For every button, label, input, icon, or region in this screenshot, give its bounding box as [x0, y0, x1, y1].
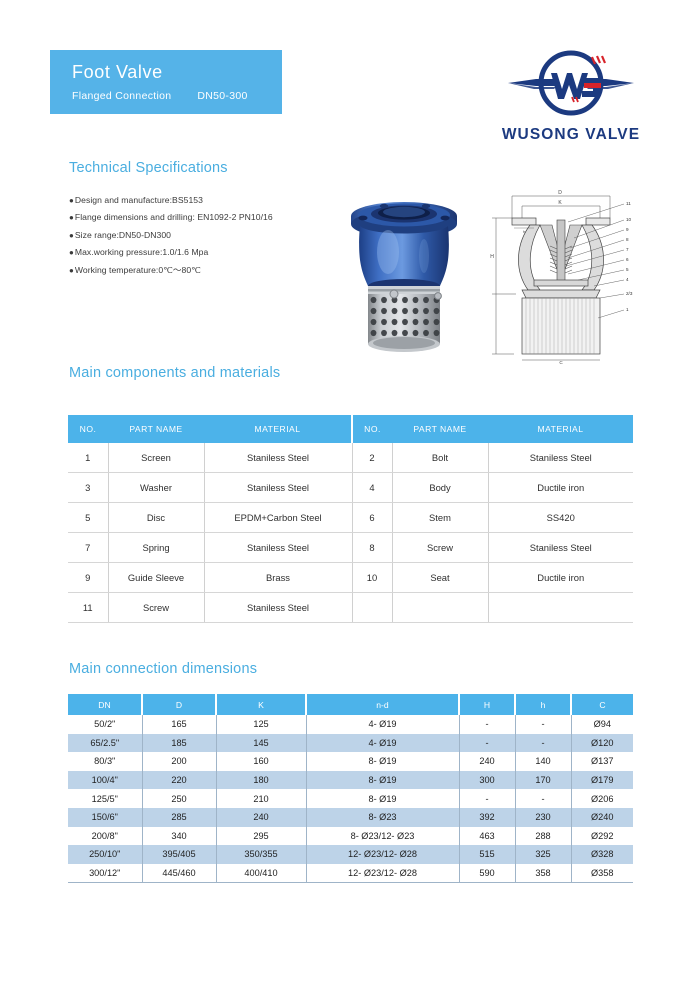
- cell-nd: 4- Ø19: [306, 715, 459, 734]
- bullet-icon: ●: [69, 266, 74, 275]
- cell-d: 185: [142, 734, 216, 753]
- cell-part-name: Disc: [108, 503, 204, 533]
- foot-valve-photo: [338, 186, 470, 361]
- col-header-no-1: NO.: [68, 415, 108, 443]
- cell-nd: 8- Ø19: [306, 789, 459, 808]
- cell-part-name: Screen: [108, 443, 204, 473]
- cell-material: Ductile iron: [488, 563, 633, 593]
- bullet-icon: ●: [69, 248, 74, 257]
- cell-dn: 200/8": [68, 827, 142, 846]
- cell-k: 180: [216, 771, 306, 790]
- table-row: 300/12" 445/460 400/410 12- Ø23/12- Ø28 …: [68, 864, 633, 883]
- table-row: 50/2" 165 125 4- Ø19 - - Ø94: [68, 715, 633, 734]
- cell-part-name: Washer: [108, 473, 204, 503]
- cell-nd: 12- Ø23/12- Ø28: [306, 845, 459, 864]
- cell-d: 200: [142, 752, 216, 771]
- cell-h-upper: 515: [459, 845, 515, 864]
- cell-part-name: Body: [392, 473, 488, 503]
- cell-nd: 8- Ø23/12- Ø23: [306, 827, 459, 846]
- cell-h-upper: 240: [459, 752, 515, 771]
- cell-dn: 125/5": [68, 789, 142, 808]
- cell-material: Staniless Steel: [204, 473, 352, 503]
- cell-h-lower: -: [515, 715, 571, 734]
- company-logo: WUSONG VALVE: [496, 45, 646, 155]
- svg-text:2/3: 2/3: [626, 291, 633, 296]
- cell-no: 8: [352, 533, 392, 563]
- cell-h-lower: 325: [515, 845, 571, 864]
- cell-c: Ø358: [571, 864, 633, 883]
- cell-k: 295: [216, 827, 306, 846]
- svg-text:4: 4: [626, 277, 629, 282]
- cell-k: 400/410: [216, 864, 306, 883]
- cell-d: 250: [142, 789, 216, 808]
- table-row: 125/5" 250 210 8- Ø19 - - Ø206: [68, 789, 633, 808]
- cell-part-name: Screw: [108, 593, 204, 623]
- cell-part-name: Spring: [108, 533, 204, 563]
- table-row: 1 Screen Staniless Steel 2 Bolt Staniles…: [68, 443, 633, 473]
- cell-h-lower: -: [515, 789, 571, 808]
- table-row: 200/8" 340 295 8- Ø23/12- Ø23 463 288 Ø2…: [68, 827, 633, 846]
- col-header-material-2: MATERIAL: [488, 415, 633, 443]
- cell-k: 160: [216, 752, 306, 771]
- cell-c: Ø328: [571, 845, 633, 864]
- cell-dn: 80/3": [68, 752, 142, 771]
- cell-dn: 250/10": [68, 845, 142, 864]
- cell-h-lower: 230: [515, 808, 571, 827]
- table-row: 250/10" 395/405 350/355 12- Ø23/12- Ø28 …: [68, 845, 633, 864]
- svg-text:10: 10: [626, 217, 632, 222]
- bullet-icon: ●: [69, 213, 74, 222]
- cell-part-name: [392, 593, 488, 623]
- size-range-label: DN50-300: [197, 90, 247, 102]
- cell-no: 7: [68, 533, 108, 563]
- cell-nd: 8- Ø23: [306, 808, 459, 827]
- svg-text:11: 11: [626, 201, 631, 206]
- cell-part-name: Stem: [392, 503, 488, 533]
- table-row: 7 Spring Staniless Steel 8 Screw Stanile…: [68, 533, 633, 563]
- cell-no: 3: [68, 473, 108, 503]
- cell-k: 125: [216, 715, 306, 734]
- cell-material: Staniless Steel: [204, 533, 352, 563]
- cell-d: 165: [142, 715, 216, 734]
- cell-no: 5: [68, 503, 108, 533]
- col-header-partname-1: PART NAME: [108, 415, 204, 443]
- cell-c: Ø120: [571, 734, 633, 753]
- cell-k: 350/355: [216, 845, 306, 864]
- col-header-h-lower: h: [515, 694, 571, 715]
- cell-h-lower: -: [515, 734, 571, 753]
- title-banner: Foot Valve Flanged Connection DN50-300: [50, 50, 282, 114]
- cell-k: 240: [216, 808, 306, 827]
- cell-h-upper: 300: [459, 771, 515, 790]
- cell-h-lower: 358: [515, 864, 571, 883]
- cell-c: Ø206: [571, 789, 633, 808]
- connection-type: Flanged Connection: [72, 90, 171, 102]
- col-header-k: K: [216, 694, 306, 715]
- cell-material: SS420: [488, 503, 633, 533]
- spec-text: Working temperature:0℃～80℃: [75, 265, 201, 275]
- company-name: WUSONG VALVE: [496, 126, 646, 144]
- svg-text:h: h: [523, 229, 525, 234]
- cell-part-name: Bolt: [392, 443, 488, 473]
- svg-text:D: D: [558, 190, 562, 196]
- dimensions-heading: Main connection dimensions: [69, 661, 257, 677]
- cell-no: [352, 593, 392, 623]
- cell-d: 445/460: [142, 864, 216, 883]
- svg-text:6: 6: [626, 257, 629, 262]
- col-header-d: D: [142, 694, 216, 715]
- cell-no: 10: [352, 563, 392, 593]
- cell-d: 340: [142, 827, 216, 846]
- table-row: 150/6" 285 240 8- Ø23 392 230 Ø240: [68, 808, 633, 827]
- cell-no: 2: [352, 443, 392, 473]
- cell-dn: 300/12": [68, 864, 142, 883]
- table-row: 11 Screw Staniless Steel: [68, 593, 633, 623]
- svg-text:7: 7: [626, 247, 629, 252]
- cell-nd: 8- Ø19: [306, 771, 459, 790]
- table-row: 65/2.5" 185 145 4- Ø19 - - Ø120: [68, 734, 633, 753]
- svg-text:8: 8: [626, 237, 629, 242]
- cell-nd: 4- Ø19: [306, 734, 459, 753]
- page-header: Foot Valve Flanged Connection DN50-300: [0, 0, 700, 150]
- table-row: 100/4" 220 180 8- Ø19 300 170 Ø179: [68, 771, 633, 790]
- cell-c: Ø179: [571, 771, 633, 790]
- cell-h-lower: 288: [515, 827, 571, 846]
- svg-text:9: 9: [626, 227, 629, 232]
- bullet-icon: ●: [69, 231, 74, 240]
- table-row: 80/3" 200 160 8- Ø19 240 140 Ø137: [68, 752, 633, 771]
- cell-part-name: Screw: [392, 533, 488, 563]
- cell-h-upper: 590: [459, 864, 515, 883]
- cell-h-upper: -: [459, 715, 515, 734]
- cell-h-lower: 140: [515, 752, 571, 771]
- col-header-dn: DN: [68, 694, 142, 715]
- cell-h-upper: 463: [459, 827, 515, 846]
- cell-part-name: Guide Sleeve: [108, 563, 204, 593]
- spec-text: Size range:DN50-DN300: [75, 230, 171, 240]
- col-header-h-upper: H: [459, 694, 515, 715]
- table-row: 9 Guide Sleeve Brass 10 Seat Ductile iro…: [68, 563, 633, 593]
- connection-dimensions-table: DN D K n-d H h C 50/2" 165 125 4- Ø19 - …: [68, 694, 633, 883]
- table-row: 5 Disc EPDM+Carbon Steel 6 Stem SS420: [68, 503, 633, 533]
- cell-h-upper: -: [459, 734, 515, 753]
- col-header-c: C: [571, 694, 633, 715]
- foot-valve-section-drawing: D K H: [482, 186, 650, 364]
- col-header-no-2: NO.: [352, 415, 392, 443]
- cell-material: Staniless Steel: [204, 593, 352, 623]
- spec-text: Max.working pressure:1.0/1.6 Mpa: [75, 247, 208, 257]
- cell-material: Staniless Steel: [488, 533, 633, 563]
- cell-no: 4: [352, 473, 392, 503]
- spec-item: ●Flange dimensions and drilling: EN1092-…: [69, 209, 339, 226]
- cell-material: Staniless Steel: [204, 443, 352, 473]
- cell-nd: 12- Ø23/12- Ø28: [306, 864, 459, 883]
- cell-k: 210: [216, 789, 306, 808]
- svg-text:K: K: [558, 200, 562, 206]
- components-heading: Main components and materials: [69, 365, 280, 381]
- cell-h-upper: -: [459, 789, 515, 808]
- cell-h-lower: 170: [515, 771, 571, 790]
- cell-dn: 50/2": [68, 715, 142, 734]
- cell-h-upper: 392: [459, 808, 515, 827]
- page-title: Foot Valve: [72, 61, 282, 83]
- wusong-valve-emblem-icon: [496, 45, 646, 125]
- cell-no: 6: [352, 503, 392, 533]
- table-row: 3 Washer Staniless Steel 4 Body Ductile …: [68, 473, 633, 503]
- cell-material: Brass: [204, 563, 352, 593]
- cell-material: EPDM+Carbon Steel: [204, 503, 352, 533]
- cell-c: Ø292: [571, 827, 633, 846]
- table-header-row: DN D K n-d H h C: [68, 694, 633, 715]
- col-header-material-1: MATERIAL: [204, 415, 352, 443]
- svg-text:H: H: [490, 254, 494, 260]
- cell-material: Staniless Steel: [488, 443, 633, 473]
- bullet-icon: ●: [69, 196, 74, 205]
- col-header-partname-2: PART NAME: [392, 415, 488, 443]
- spec-text: Design and manufacture:BS5153: [75, 195, 203, 205]
- svg-text:1: 1: [626, 307, 629, 312]
- cell-dn: 100/4": [68, 771, 142, 790]
- cell-dn: 65/2.5": [68, 734, 142, 753]
- cell-c: Ø94: [571, 715, 633, 734]
- cell-no: 9: [68, 563, 108, 593]
- spec-item: ●Working temperature:0℃～80℃: [69, 262, 339, 279]
- spec-item: ●Design and manufacture:BS5153: [69, 192, 339, 209]
- table-header-row: NO. PART NAME MATERIAL NO. PART NAME MAT…: [68, 415, 633, 443]
- cell-c: Ø137: [571, 752, 633, 771]
- cell-no: 11: [68, 593, 108, 623]
- components-materials-table: NO. PART NAME MATERIAL NO. PART NAME MAT…: [68, 415, 633, 623]
- specifications-list: ●Design and manufacture:BS5153 ●Flange d…: [69, 192, 339, 279]
- svg-text:C: C: [559, 360, 563, 364]
- cell-material: [488, 593, 633, 623]
- specifications-heading: Technical Specifications: [69, 160, 228, 176]
- spec-item: ●Size range:DN50-DN300: [69, 227, 339, 244]
- cell-c: Ø240: [571, 808, 633, 827]
- cell-no: 1: [68, 443, 108, 473]
- spec-text: Flange dimensions and drilling: EN1092-2…: [75, 212, 273, 222]
- cell-d: 220: [142, 771, 216, 790]
- spec-item: ●Max.working pressure:1.0/1.6 Mpa: [69, 244, 339, 261]
- cell-k: 145: [216, 734, 306, 753]
- cell-dn: 150/6": [68, 808, 142, 827]
- cell-d: 395/405: [142, 845, 216, 864]
- col-header-nd: n-d: [306, 694, 459, 715]
- cell-material: Ductile iron: [488, 473, 633, 503]
- cell-nd: 8- Ø19: [306, 752, 459, 771]
- cell-part-name: Seat: [392, 563, 488, 593]
- cell-d: 285: [142, 808, 216, 827]
- svg-text:5: 5: [626, 267, 629, 272]
- title-subline: Flanged Connection DN50-300: [72, 90, 282, 102]
